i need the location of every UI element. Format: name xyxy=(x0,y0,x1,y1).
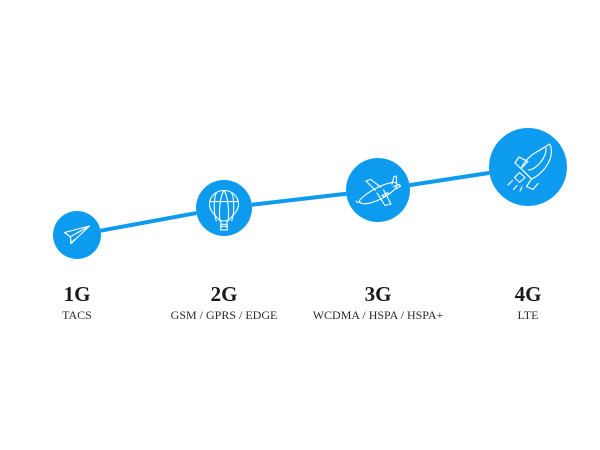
connector-group xyxy=(101,173,490,231)
node-circle-3g xyxy=(346,158,410,222)
node-2g[interactable] xyxy=(196,180,252,236)
connector-1g-2g xyxy=(101,213,197,231)
generation-name-4g: 4G xyxy=(515,283,542,306)
node-circle-2g xyxy=(196,180,252,236)
generation-tech-3g: WCDMA / HSPA / HSPA+ xyxy=(313,307,444,323)
connector-3g-4g xyxy=(410,173,490,185)
generation-name-1g: 1G xyxy=(62,283,92,306)
label-3g: 3G WCDMA / HSPA / HSPA+ xyxy=(313,283,444,323)
generation-tech-1g: TACS xyxy=(62,307,92,323)
node-4g[interactable] xyxy=(489,128,567,206)
node-1g[interactable] xyxy=(53,211,101,259)
node-3g[interactable] xyxy=(346,158,410,222)
node-circle-1g xyxy=(53,211,101,259)
label-4g: 4G LTE xyxy=(515,283,542,323)
generation-tech-2g: GSM / GPRS / EDGE xyxy=(171,307,278,323)
generation-tech-4g: LTE xyxy=(515,307,542,323)
generation-name-2g: 2G xyxy=(171,283,278,306)
network-generations-infographic: 1G TACS 2G GSM / GPRS / EDGE 3G WCDMA / … xyxy=(0,0,600,450)
node-circle-4g xyxy=(489,128,567,206)
timeline-diagram xyxy=(0,0,600,450)
generation-name-3g: 3G xyxy=(313,283,444,306)
label-1g: 1G TACS xyxy=(62,283,92,323)
connector-2g-3g xyxy=(252,194,346,205)
label-2g: 2G GSM / GPRS / EDGE xyxy=(171,283,278,323)
